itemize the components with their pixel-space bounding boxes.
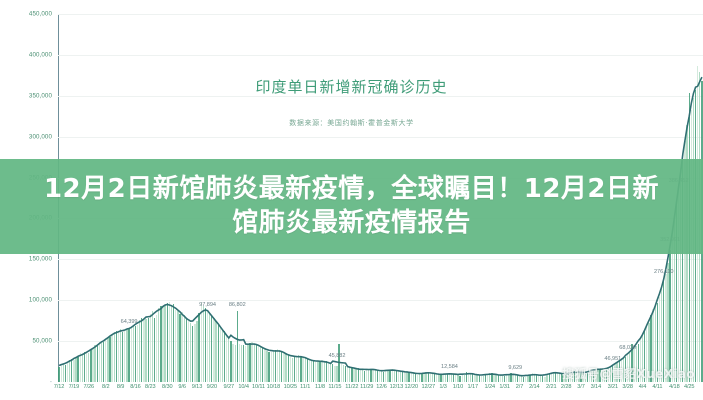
x-axis-tick-label: 1/24 <box>485 384 496 390</box>
y-axis-tick-label: 400,000 <box>2 51 52 58</box>
x-axis-tick-label: 10/18 <box>267 384 281 390</box>
x-axis-tick-label: 8/9 <box>117 384 124 390</box>
chart-data-label: 276,110 <box>654 269 673 275</box>
x-axis-tick-label: 12/27 <box>421 384 435 390</box>
chart-data-label: 97,894 <box>199 302 216 308</box>
headline-text: 12月2日新馆肺炎最新疫情，全球瞩目！12月2日新馆肺炎最新疫情报告 <box>32 173 672 240</box>
x-axis-tick-label: 10/25 <box>284 384 298 390</box>
x-axis-tick-label: 1/10 <box>453 384 464 390</box>
x-axis-tick-label: 8/23 <box>145 384 156 390</box>
x-axis-tick-label: 2/21 <box>546 384 557 390</box>
x-axis-tick-label: 1/31 <box>499 384 510 390</box>
x-axis-tick-label: 4/18 <box>669 384 680 390</box>
y-axis-tick-label: 450,000 <box>2 11 52 18</box>
x-axis-tick-label: 11/15 <box>328 384 341 390</box>
x-axis-tick-label: 3/7 <box>577 384 584 390</box>
x-axis-tick-label: 4/4 <box>639 384 646 390</box>
x-axis-tick-label: 7/26 <box>84 384 95 390</box>
chart-data-label: 68,020 <box>619 345 636 351</box>
x-axis-tick-label: 4/25 <box>684 384 695 390</box>
x-axis-tick-label: 8/2 <box>102 384 109 390</box>
x-axis-tick-label: 2/14 <box>529 384 540 390</box>
chart-subtitle-source: 数据来源：美国约翰斯·霍普金斯大学 <box>0 118 703 128</box>
chart-data-label: 64,399 <box>121 319 138 325</box>
y-axis-tick-label: 150,000 <box>2 256 52 263</box>
x-axis-tick-label: 9/27 <box>224 384 235 390</box>
x-axis-tick-label: 4/11 <box>652 384 662 390</box>
x-axis-tick-label: 10/4 <box>238 384 249 390</box>
x-axis-tick-label: 7/12 <box>54 384 65 390</box>
chart-x-axis-labels: 7/127/197/268/28/98/168/238/309/69/139/2… <box>58 384 703 398</box>
chart-data-label: 46,951 <box>604 356 621 362</box>
x-axis-tick-label: 7/19 <box>69 384 80 390</box>
x-axis-tick-label: 11/29 <box>360 384 373 390</box>
headline-overlay-band: 12月2日新馆肺炎最新疫情，全球瞩目！12月2日新馆肺炎最新疫情报告 <box>0 159 703 254</box>
x-axis-tick-label: 11/1 <box>300 384 310 390</box>
y-axis-tick-label: 300,000 <box>2 133 52 140</box>
x-axis-tick-label: 12/6 <box>376 384 387 390</box>
x-axis-tick-label: 8/30 <box>162 384 173 390</box>
x-axis-tick-label: 1/3 <box>439 384 446 390</box>
chart-data-label: 86,802 <box>229 302 246 308</box>
x-axis-tick-label: 8/16 <box>130 384 141 390</box>
x-axis-tick-label: 9/13 <box>192 384 203 390</box>
x-axis-tick-label: 9/20 <box>207 384 218 390</box>
chart-data-label: 45,882 <box>329 353 346 359</box>
x-axis-tick-label: 11/8 <box>315 384 325 390</box>
y-axis-tick-label: - <box>2 379 52 386</box>
x-axis-tick-label: 3/28 <box>622 384 633 390</box>
y-axis-tick-label: 50,000 <box>2 338 52 345</box>
x-axis-tick-label: 3/21 <box>608 384 619 390</box>
x-axis-tick-label: 9/6 <box>178 384 185 390</box>
x-axis-tick-label: 3/14 <box>591 384 602 390</box>
x-axis-tick-label: 12/20 <box>405 384 419 390</box>
x-axis-tick-label: 1/17 <box>468 384 479 390</box>
chart-data-label: 9,629 <box>508 365 522 371</box>
x-axis-tick-label: 2/28 <box>561 384 572 390</box>
chart-data-label: 12,584 <box>441 364 458 370</box>
y-axis-tick-label: 100,000 <box>2 297 52 304</box>
x-axis-tick-label: 11/22 <box>345 384 358 390</box>
screenshot-root: 64,39997,89486,80245,88212,5849,62946,95… <box>0 0 703 400</box>
x-axis-tick-label: 10/11 <box>252 384 265 390</box>
x-axis-tick-label: 2/7 <box>516 384 523 390</box>
x-axis-tick-label: 12/13 <box>390 384 404 390</box>
chart-title: 印度单日新增新冠确诊历史 <box>0 76 703 97</box>
